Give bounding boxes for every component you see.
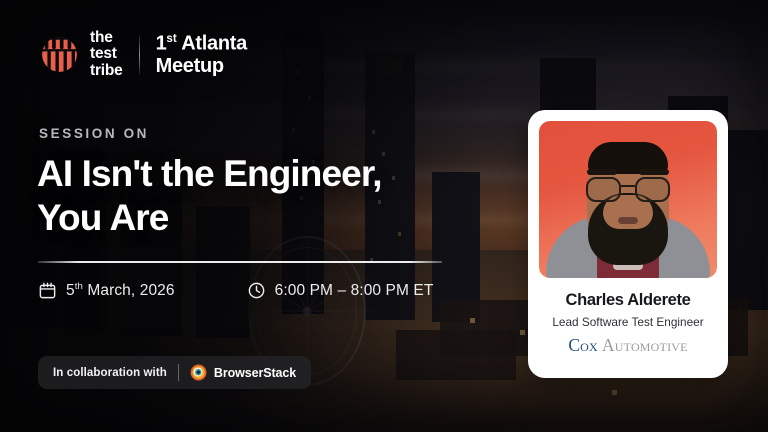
clock-icon [247, 281, 266, 300]
wordmark-line-tribe: tribe [90, 63, 123, 79]
poster-content: the test tribe 1st Atlanta Meetup SESSIO… [0, 0, 768, 432]
date-day: 5 [66, 282, 75, 299]
calendar-icon [38, 281, 57, 300]
date-month-year: March, 2026 [83, 282, 175, 299]
collaboration-divider [178, 364, 179, 381]
the-test-tribe-mark-icon [38, 33, 81, 76]
wordmark-line-the: the [90, 30, 123, 46]
collaboration-label: In collaboration with [53, 367, 167, 379]
photo-eyebrow-left [587, 169, 617, 175]
speaker-name: Charles Alderete [566, 292, 691, 309]
cox-wordmark: Cox [568, 337, 598, 355]
event-date: 5th March, 2026 [38, 281, 175, 300]
event-time: 6:00 PM – 8:00 PM ET [247, 281, 434, 300]
glasses-bridge [621, 185, 635, 187]
meetup-title: 1st Atlanta Meetup [156, 32, 247, 77]
glasses-lens-right [635, 177, 670, 202]
photo-eyebrow-right [639, 169, 669, 175]
event-time-text: 6:00 PM – 8:00 PM ET [275, 282, 434, 300]
the-test-tribe-logo[interactable]: the test tribe [38, 30, 123, 79]
session-eyebrow-label: SESSION ON [39, 126, 149, 141]
event-poster: the test tribe 1st Atlanta Meetup SESSIO… [0, 0, 768, 432]
speaker-company-logo: Cox Automotive [568, 337, 687, 355]
browserstack-brand: BrowserStack [190, 364, 296, 381]
meetup-title-line1: 1st Atlanta [156, 32, 247, 55]
wordmark-line-test: test [90, 46, 123, 62]
collaboration-badge[interactable]: In collaboration with BrowserStack [38, 356, 311, 389]
meetup-city: Atlanta [177, 33, 247, 55]
session-title-line2: You Are [37, 196, 507, 240]
the-test-tribe-wordmark: the test tribe [90, 30, 123, 79]
speaker-card: Charles Alderete Lead Software Test Engi… [528, 110, 728, 378]
speaker-photo [539, 121, 717, 278]
glasses-lens-left [586, 177, 621, 202]
brand-divider [139, 35, 140, 75]
speaker-role: Lead Software Test Engineer [552, 317, 703, 329]
photo-mouth [618, 217, 638, 224]
event-date-text: 5th March, 2026 [66, 281, 175, 300]
meetup-title-line2: Meetup [156, 55, 247, 77]
meetup-ordinal-suffix: st [166, 32, 176, 45]
browserstack-icon [190, 364, 207, 381]
meetup-ordinal-number: 1 [156, 33, 167, 55]
automotive-wordmark: Automotive [602, 337, 688, 355]
date-ordinal: th [75, 281, 83, 292]
event-meta-row: 5th March, 2026 6:00 PM – 8:00 PM ET [38, 281, 433, 300]
session-title: AI Isn't the Engineer, You Are [37, 152, 507, 239]
photo-glasses [586, 177, 670, 202]
session-title-line1: AI Isn't the Engineer, [37, 152, 507, 196]
browserstack-wordmark: BrowserStack [214, 366, 296, 380]
header-brand: the test tribe 1st Atlanta Meetup [38, 30, 247, 79]
content-divider [38, 261, 442, 263]
